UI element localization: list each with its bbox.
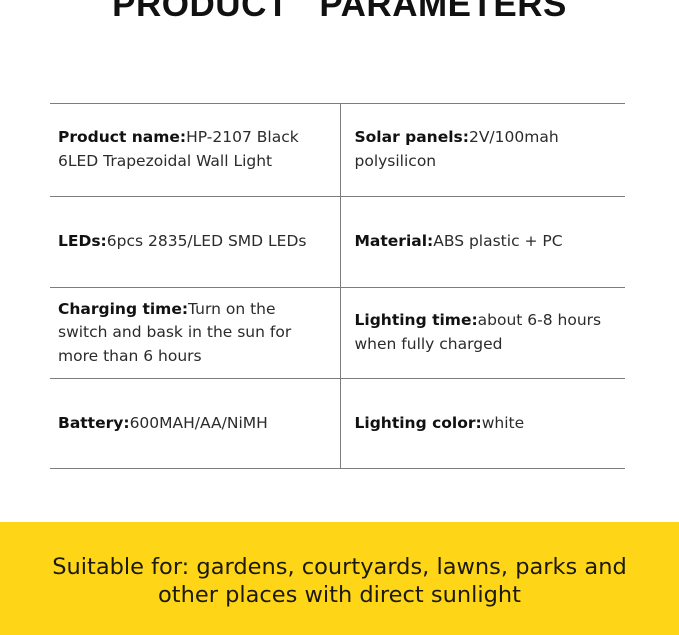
param-cell-charging-time: Charging time:Turn on the switch and bas… (50, 288, 340, 379)
param-value: white (482, 414, 524, 432)
param-cell-material: Material:ABS plastic + PC (340, 197, 625, 288)
param-value: 6pcs 2835/LED SMD LEDs (107, 232, 307, 250)
param-cell-lighting-color: Lighting color:white (340, 379, 625, 469)
param-label: Product name: (58, 128, 186, 146)
product-parameters-table: Product name:HP-2107 Black 6LED Trapezoi… (50, 103, 625, 469)
param-cell-lighting-time: Lighting time:about 6-8 hours when fully… (340, 288, 625, 379)
table-row: LEDs:6pcs 2835/LED SMD LEDs Material:ABS… (50, 197, 625, 288)
param-label: Lighting color: (355, 414, 482, 432)
param-cell-product-name: Product name:HP-2107 Black 6LED Trapezoi… (50, 104, 340, 197)
page-title: PRODUCT PARAMETERS (0, 0, 679, 25)
param-label: Solar panels: (355, 128, 469, 146)
suitable-for-banner-text: Suitable for: gardens, courtyards, lawns… (0, 554, 679, 610)
param-label: Lighting time: (355, 311, 478, 329)
param-label: Material: (355, 232, 434, 250)
table-row: Product name:HP-2107 Black 6LED Trapezoi… (50, 104, 625, 197)
param-label: Battery: (58, 414, 130, 432)
param-label: LEDs: (58, 232, 107, 250)
param-cell-leds: LEDs:6pcs 2835/LED SMD LEDs (50, 197, 340, 288)
param-label: Charging time: (58, 300, 188, 318)
param-value: 600MAH/AA/NiMH (130, 414, 268, 432)
table-row: Battery:600MAH/AA/NiMH Lighting color:wh… (50, 379, 625, 469)
param-cell-battery: Battery:600MAH/AA/NiMH (50, 379, 340, 469)
param-cell-solar-panels: Solar panels:2V/100mah polysilicon (340, 104, 625, 197)
param-value: ABS plastic + PC (433, 232, 562, 250)
suitable-for-banner: Suitable for: gardens, courtyards, lawns… (0, 522, 679, 635)
table-row: Charging time:Turn on the switch and bas… (50, 288, 625, 379)
